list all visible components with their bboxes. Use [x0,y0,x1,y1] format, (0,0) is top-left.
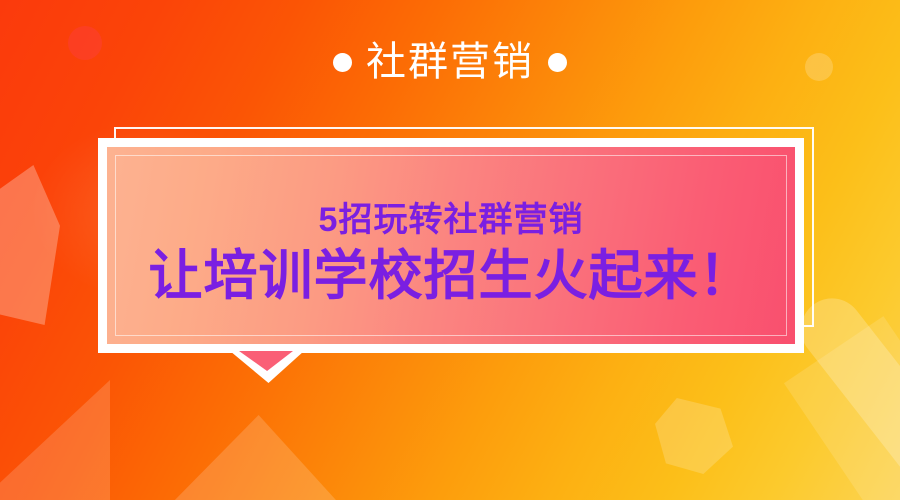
triangle-left-low-decoration [0,380,110,500]
headline-line-1: 5招玩转社群营销 [107,203,795,239]
bubble-fill: 5招玩转社群营销 让培训学校招生火起来！ [107,147,795,344]
headline-bubble: 5招玩转社群营销 让培训学校招生火起来！ [98,127,818,353]
header: 社群营销 [0,34,900,90]
dot-right-icon [548,53,567,72]
poster-canvas: 社群营销 5招玩转社群营销 让培训学校招生火起来！ [0,0,900,500]
headline-line-2: 让培训学校招生火起来！ [107,247,795,306]
bubble-frame: 5招玩转社群营销 让培训学校招生火起来！ [98,138,804,353]
dot-left-icon [333,53,352,72]
polygon-left-decoration [0,165,60,325]
triangle-bottom-mid-decoration [165,415,345,500]
hexagon-decoration [655,398,733,474]
header-title: 社群营销 [366,42,534,82]
headline-text-block: 5招玩转社群营销 让培训学校招生火起来！ [107,203,795,306]
